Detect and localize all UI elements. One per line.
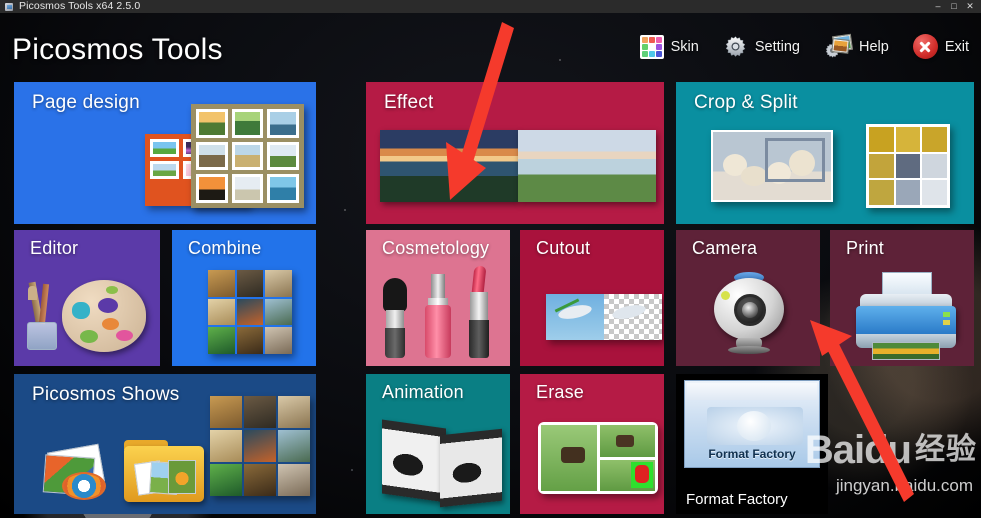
erase-preview-grid xyxy=(538,422,658,494)
window-titlebar: Picosmos Tools x64 2.5.0 – □ ✕ xyxy=(0,0,981,13)
tile-combine[interactable]: Combine xyxy=(172,230,316,366)
tile-page-design[interactable]: Page design xyxy=(14,82,316,224)
maximize-button[interactable]: □ xyxy=(947,1,961,12)
window-controls: – □ ✕ xyxy=(931,1,977,12)
picosmos-shows-photo-grid xyxy=(210,396,310,496)
tile-label-picosmos-shows: Picosmos Shows xyxy=(32,384,179,406)
app-header: Picosmos Tools Skin xyxy=(0,13,981,77)
baidu-watermark-url: jingyan.baidu.com xyxy=(836,476,973,496)
tile-animation[interactable]: Animation xyxy=(366,374,510,514)
toolbar-label-exit: Exit xyxy=(945,39,969,55)
close-circle-icon xyxy=(913,34,938,59)
toolbar-item-setting[interactable]: Setting xyxy=(711,32,812,61)
photo-viewer-eye-icon xyxy=(40,448,110,502)
format-factory-thumbnail: Format Factory xyxy=(684,380,820,468)
header-toolbar: Skin Setting xyxy=(628,32,981,61)
tile-format-factory[interactable]: Format Factory Format Factory xyxy=(676,374,828,514)
window-title: Picosmos Tools x64 2.5.0 xyxy=(19,0,140,13)
tile-label-erase: Erase xyxy=(536,382,584,403)
help-icon xyxy=(824,35,852,59)
photo-folder-icon xyxy=(124,440,204,502)
baidu-watermark-logo: Baidu 经验 xyxy=(805,430,977,470)
tile-picosmos-shows[interactable]: Picosmos Shows xyxy=(14,374,316,514)
palette-icon xyxy=(62,280,146,352)
tile-crop-split[interactable]: Crop & Split xyxy=(676,82,974,224)
tile-erase[interactable]: Erase xyxy=(520,374,664,514)
tile-label-crop-split: Crop & Split xyxy=(694,92,798,114)
tile-label-effect: Effect xyxy=(384,92,433,114)
tile-label-animation: Animation xyxy=(382,382,464,403)
watermark-cn: 经验 xyxy=(915,435,977,465)
help-photo-front xyxy=(831,38,849,54)
tile-editor[interactable]: Editor xyxy=(14,230,160,366)
tile-label-editor: Editor xyxy=(30,238,78,259)
lipstick-icon xyxy=(466,266,492,358)
gear-icon xyxy=(723,34,748,59)
format-factory-thumb-toolbar xyxy=(687,383,817,400)
makeup-brush-icon xyxy=(382,278,408,358)
tile-label-combine: Combine xyxy=(188,238,261,259)
tile-camera[interactable]: Camera xyxy=(676,230,820,366)
tile-label-format-factory: Format Factory xyxy=(686,491,788,508)
brushes-icon xyxy=(24,282,60,350)
application-window: Picosmos Tools x64 2.5.0 – □ ✕ Picosmos … xyxy=(0,0,981,518)
tile-effect[interactable]: Effect xyxy=(366,82,664,224)
tile-label-cutout: Cutout xyxy=(536,238,590,259)
tile-label-camera: Camera xyxy=(692,238,757,259)
skin-palette-icon xyxy=(640,35,664,59)
tile-print[interactable]: Print xyxy=(830,230,974,366)
filmstrip-icon xyxy=(382,420,502,504)
app-icon xyxy=(4,2,14,12)
tile-cosmetology[interactable]: Cosmetology xyxy=(366,230,510,366)
close-button[interactable]: ✕ xyxy=(963,1,977,12)
crop-split-puppies-photo xyxy=(711,130,833,202)
nail-polish-icon xyxy=(424,274,452,358)
page-design-album-khaki xyxy=(191,104,304,208)
cutout-before-after xyxy=(546,294,662,340)
tile-cutout[interactable]: Cutout xyxy=(520,230,664,366)
format-factory-thumb-label: Format Factory xyxy=(685,447,819,461)
tile-label-cosmetology: Cosmetology xyxy=(382,238,489,259)
crop-split-grid-preview xyxy=(866,124,950,208)
combine-photo-grid xyxy=(208,270,292,354)
tile-label-page-design: Page design xyxy=(32,92,140,114)
toolbar-label-skin: Skin xyxy=(671,39,699,55)
webcam-icon xyxy=(712,272,786,356)
toolbar-item-help[interactable]: Help xyxy=(812,33,901,61)
toolbar-item-skin[interactable]: Skin xyxy=(628,33,711,61)
minimize-button[interactable]: – xyxy=(931,1,945,12)
toolbar-label-setting: Setting xyxy=(755,39,800,55)
effect-photo-after xyxy=(518,130,656,202)
tile-label-print: Print xyxy=(846,238,884,259)
effect-photo-before xyxy=(380,130,518,202)
toolbar-item-exit[interactable]: Exit xyxy=(901,32,981,61)
page-title: Picosmos Tools xyxy=(12,33,223,67)
toolbar-label-help: Help xyxy=(859,39,889,55)
printer-icon xyxy=(856,272,956,360)
